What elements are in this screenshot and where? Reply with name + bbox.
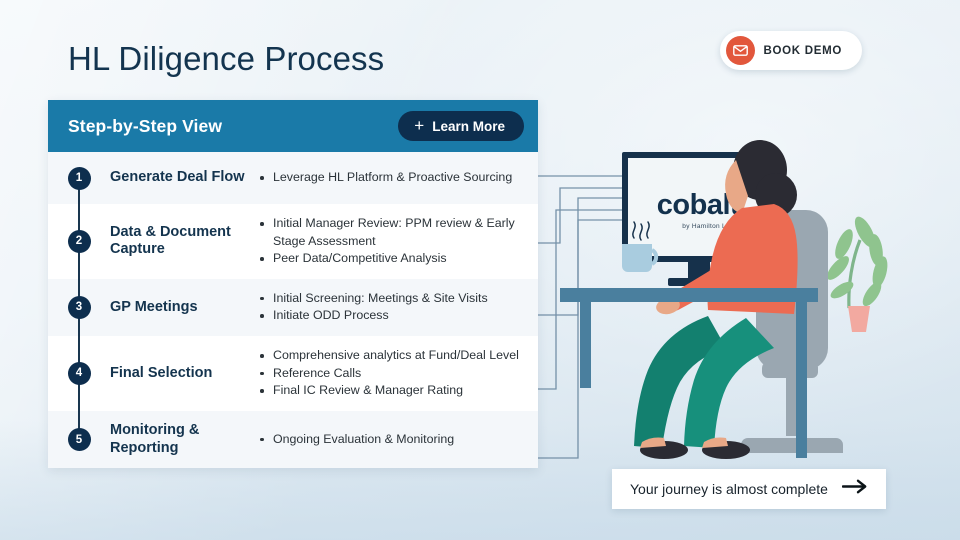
step-bullet-item: Initial Manager Review: PPM review & Ear… xyxy=(258,215,524,250)
step-bullets: Initial Screening: Meetings & Site Visit… xyxy=(258,290,524,325)
step-number-badge: 3 xyxy=(68,296,91,319)
learn-more-button[interactable]: + Learn More xyxy=(398,111,524,141)
step-bullet-item: Final IC Review & Manager Rating xyxy=(258,382,524,400)
step-by-step-panel: Step-by-Step View + Learn More 1Generate… xyxy=(48,100,538,468)
step-bullet-item: Initial Screening: Meetings & Site Visit… xyxy=(258,290,524,308)
desk-worker-illustration: cobalt by Hamilton Lane xyxy=(560,120,960,500)
page-title: HL Diligence Process xyxy=(68,40,384,78)
step-badge-column: 1 xyxy=(48,163,110,193)
plus-icon: + xyxy=(414,117,424,134)
step-number-badge: 5 xyxy=(68,428,91,451)
step-bullet-item: Initiate ODD Process xyxy=(258,307,524,325)
book-demo-button[interactable]: BOOK DEMO xyxy=(720,31,863,70)
slide-canvas: cobalt by Hamilton Lane xyxy=(0,0,960,540)
step-bullets: Initial Manager Review: PPM review & Ear… xyxy=(258,215,524,268)
arrow-right-icon xyxy=(842,479,868,499)
step-name: Generate Deal Flow xyxy=(110,169,258,187)
step-bullets: Ongoing Evaluation & Monitoring xyxy=(258,431,524,449)
step-name: Monitoring & Reporting xyxy=(110,422,258,457)
step-bullet-item: Comprehensive analytics at Fund/Deal Lev… xyxy=(258,347,524,365)
step-name: Final Selection xyxy=(110,365,258,383)
envelope-icon xyxy=(726,36,755,65)
journey-banner[interactable]: Your journey is almost complete xyxy=(612,469,886,509)
step-bullets: Comprehensive analytics at Fund/Deal Lev… xyxy=(258,347,524,400)
step-name: GP Meetings xyxy=(110,299,258,317)
step-number-badge: 4 xyxy=(68,362,91,385)
step-number-badge: 2 xyxy=(68,230,91,253)
book-demo-label: BOOK DEMO xyxy=(764,45,843,57)
plant-icon xyxy=(824,214,891,332)
step-row[interactable]: 1Generate Deal FlowLeverage HL Platform … xyxy=(48,152,538,204)
panel-title: Step-by-Step View xyxy=(68,116,222,137)
step-bullet-item: Leverage HL Platform & Proactive Sourcin… xyxy=(258,169,524,187)
step-bullet-item: Reference Calls xyxy=(258,365,524,383)
step-row[interactable]: 3GP MeetingsInitial Screening: Meetings … xyxy=(48,279,538,336)
learn-more-label: Learn More xyxy=(432,119,505,134)
step-row[interactable]: 2Data & Document CaptureInitial Manager … xyxy=(48,204,538,279)
step-bullets: Leverage HL Platform & Proactive Sourcin… xyxy=(258,169,524,187)
step-row[interactable]: 4Final SelectionComprehensive analytics … xyxy=(48,336,538,411)
panel-header: Step-by-Step View + Learn More xyxy=(48,100,538,152)
steps-list: 1Generate Deal FlowLeverage HL Platform … xyxy=(48,152,538,468)
step-number-badge: 1 xyxy=(68,167,91,190)
step-bullet-item: Peer Data/Competitive Analysis xyxy=(258,250,524,268)
coffee-mug xyxy=(622,244,656,272)
journey-banner-label: Your journey is almost complete xyxy=(630,481,828,497)
step-name: Data & Document Capture xyxy=(110,224,258,259)
step-row[interactable]: 5Monitoring & ReportingOngoing Evaluatio… xyxy=(48,411,538,468)
step-bullet-item: Ongoing Evaluation & Monitoring xyxy=(258,431,524,449)
step-badge-column: 5 xyxy=(48,422,110,457)
